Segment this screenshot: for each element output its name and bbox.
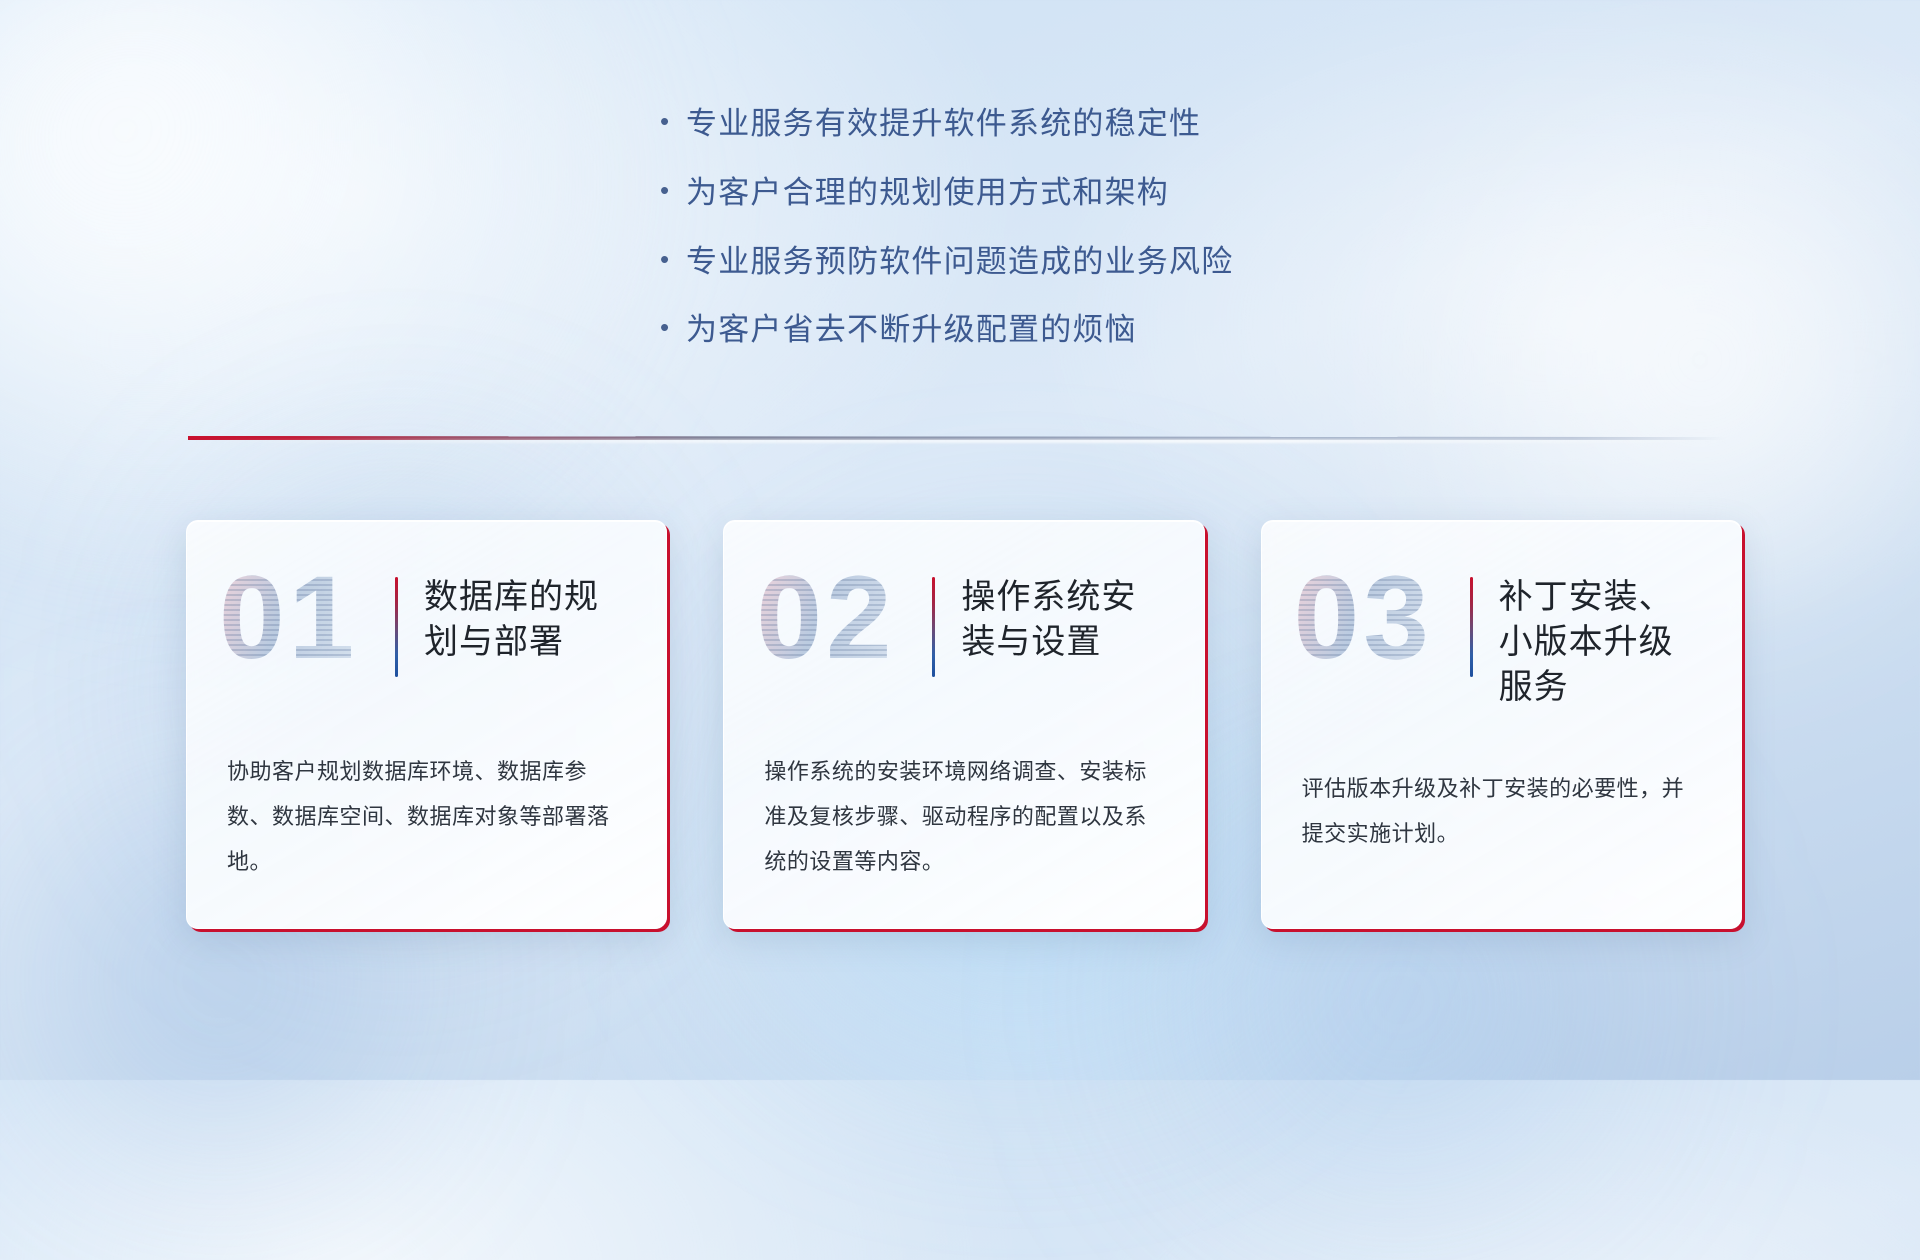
slide-stage: 专业服务有效提升软件系统的稳定性 为客户合理的规划使用方式和架构 专业服务预防软… (0, 0, 1920, 1080)
bullet-item-2: 为客户合理的规划使用方式和架构 (660, 174, 1420, 213)
service-card-02[interactable]: 02 操作系统安装与设置 操作系统的安装环境网络调查、安装标准及复核步骤、驱动程… (723, 520, 1204, 929)
card-title-divider (1470, 577, 1473, 677)
bullet-item-2-label: 为客户合理的规划使用方式和架构 (686, 174, 1169, 213)
card-title-02: 操作系统安装与设置 (961, 573, 1163, 665)
section-divider (188, 436, 1726, 443)
bullet-item-3: 专业服务预防软件问题造成的业务风险 (660, 243, 1420, 282)
card-body-03: 评估版本升级及补丁安装的必要性，并提交实施计划。 (1302, 766, 1701, 856)
bullet-item-3-label: 专业服务预防软件问题造成的业务风险 (686, 243, 1233, 282)
card-header: 03 补丁安装、小版本升级服务 (1302, 573, 1701, 710)
bullet-dot-icon (660, 246, 686, 272)
bullet-item-1-label: 专业服务有效提升软件系统的稳定性 (686, 105, 1201, 144)
bullet-item-4-label: 为客户省去不断升级配置的烦恼 (686, 311, 1137, 350)
service-card-list: 01 数据库的规划与部署 协助客户规划数据库环境、数据库参数、数据库空间、数据库… (186, 520, 1742, 929)
card-title-divider (395, 577, 398, 677)
card-body-01: 协助客户规划数据库环境、数据库参数、数据库空间、数据库对象等部署落地。 (227, 749, 626, 884)
card-title-03: 补丁安装、小版本升级服务 (1499, 573, 1701, 710)
bullet-dot-icon (660, 177, 686, 203)
bullet-dot-icon (660, 108, 686, 134)
service-card-01[interactable]: 01 数据库的规划与部署 协助客户规划数据库环境、数据库参数、数据库空间、数据库… (186, 520, 667, 929)
service-card-03[interactable]: 03 补丁安装、小版本升级服务 评估版本升级及补丁安装的必要性，并提交实施计划。 (1261, 520, 1742, 929)
benefits-bullet-list: 专业服务有效提升软件系统的稳定性 为客户合理的规划使用方式和架构 专业服务预防软… (660, 105, 1420, 380)
card-number-01: 01 (219, 559, 358, 677)
card-title-divider (932, 577, 935, 677)
card-title-01: 数据库的规划与部署 (424, 573, 626, 665)
bullet-dot-icon (660, 314, 686, 340)
card-header: 02 操作系统安装与设置 (764, 573, 1163, 693)
card-number-03: 03 (1294, 559, 1433, 677)
bullet-item-4: 为客户省去不断升级配置的烦恼 (660, 311, 1420, 350)
divider-highlight-line (188, 439, 1726, 443)
card-number-02: 02 (756, 559, 895, 677)
card-body-02: 操作系统的安装环境网络调查、安装标准及复核步骤、驱动程序的配置以及系统的设置等内… (764, 749, 1163, 884)
card-header: 01 数据库的规划与部署 (227, 573, 626, 693)
bullet-item-1: 专业服务有效提升软件系统的稳定性 (660, 105, 1420, 144)
